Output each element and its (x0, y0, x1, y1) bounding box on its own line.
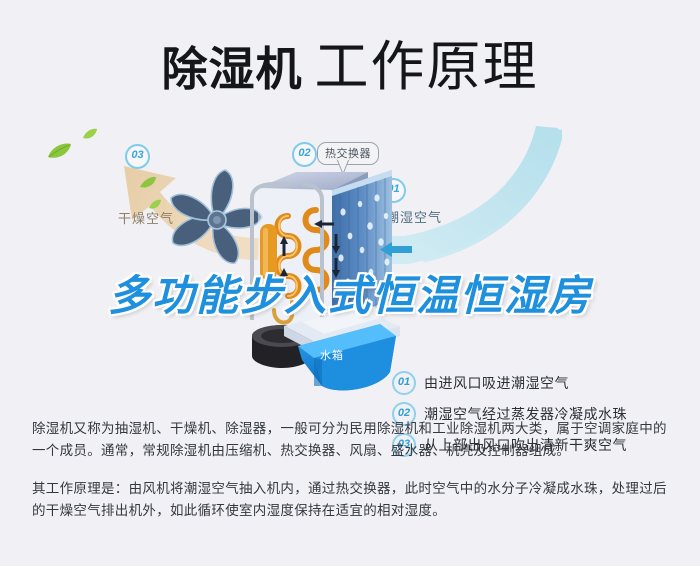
page-title-part1: 除湿机 (162, 43, 303, 95)
water-tank-label: 水箱 (320, 347, 344, 363)
page-title-part2: 工作原理 (315, 37, 539, 97)
body-copy: 除湿机又称为抽湿机、干燥机、除湿器，一般可分为民用除湿机和工业除湿机两大类，属于… (32, 418, 672, 538)
leaf-icon (148, 199, 162, 210)
overlay-headline: 多功能步入式恒温恒湿房 (0, 262, 700, 323)
infographic-page: 除湿机工作原理 干燥空气 (0, 0, 700, 566)
diagram-stage: 干燥空气 03 02 01 热交换器 (0, 120, 700, 400)
list-item: 01 由进风口吸进潮湿空气 (392, 367, 692, 398)
legend-label: 由进风口吸进潮湿空气 (424, 373, 569, 393)
leaf-icon (82, 128, 98, 140)
leaf-icon (46, 142, 72, 160)
paragraph-2: 其工作原理是：由风机将潮湿空气抽入机内，通过热交换器，此时空气中的水分子冷凝成水… (32, 478, 672, 522)
page-title: 除湿机工作原理 (0, 22, 700, 101)
leaf-icon (139, 176, 157, 189)
badge-dry-air: 03 (125, 144, 150, 169)
paragraph-1: 除湿机又称为抽湿机、干燥机、除湿器，一般可分为民用除湿机和工业除湿机两大类，属于… (32, 418, 672, 462)
legend-number: 01 (392, 371, 416, 395)
